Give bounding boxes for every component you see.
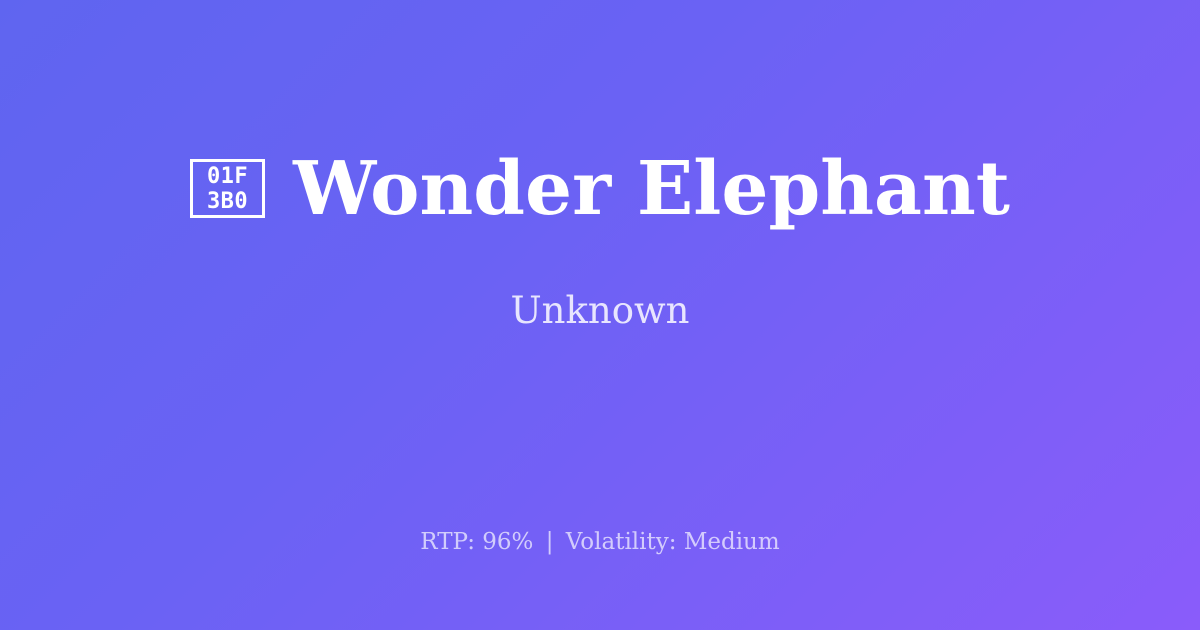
page-title: Wonder Elephant xyxy=(293,152,1010,226)
meta-separator: | xyxy=(541,529,559,555)
title-row: 01F 3B0 Wonder Elephant xyxy=(190,152,1010,226)
page-subtitle: Unknown xyxy=(510,226,689,329)
slot-machine-icon: 01F 3B0 xyxy=(190,159,265,218)
rtp-label: RTP: xyxy=(420,529,475,555)
volatility-label: Volatility: xyxy=(566,529,677,555)
rtp-value: 96% xyxy=(482,529,533,555)
game-meta-footer: RTP: 96% | Volatility: Medium xyxy=(0,528,1200,556)
og-preview-card: 01F 3B0 Wonder Elephant Unknown RTP: 96%… xyxy=(0,0,1200,630)
tofu-codepoint-top: 01F xyxy=(207,164,248,189)
hero-block: 01F 3B0 Wonder Elephant Unknown xyxy=(0,0,1200,480)
volatility-value: Medium xyxy=(684,529,780,555)
tofu-codepoint-bottom: 3B0 xyxy=(207,189,248,214)
